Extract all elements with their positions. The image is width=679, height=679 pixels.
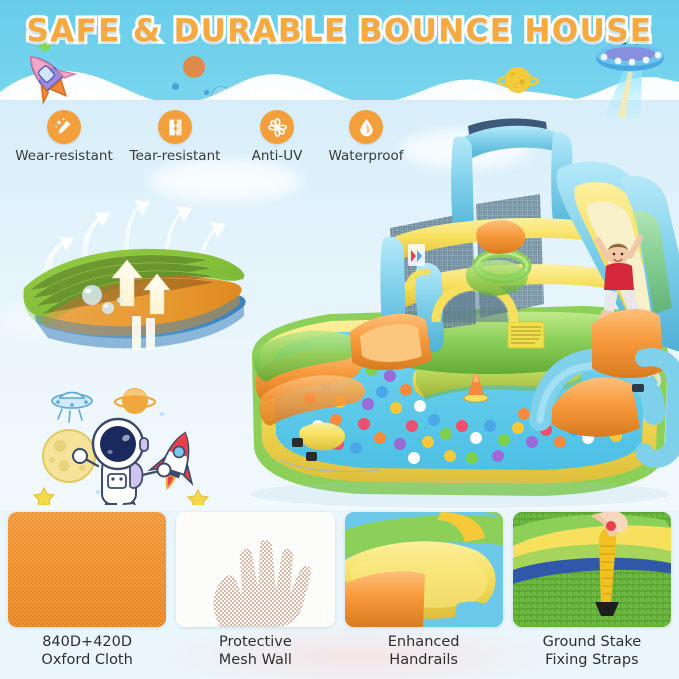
caption-line-1: Protective — [176, 634, 334, 652]
star-icon — [34, 488, 54, 505]
caption-line-2: Handrails — [345, 652, 503, 670]
star-icon — [188, 490, 208, 505]
feature-wear-resistant[interactable]: Wear-resistant — [8, 110, 120, 164]
oxford-cloth-caption: 840D+420D Oxford Cloth — [8, 634, 166, 669]
planet-saturn-icon — [496, 60, 540, 104]
panel-image-row — [8, 512, 671, 627]
feature-label: Anti-UV — [252, 148, 303, 164]
hand-pulling-stake-strap-on-grass — [513, 512, 671, 627]
hand-pressing-mesh — [176, 512, 334, 627]
air-valve — [306, 452, 317, 461]
oxford-cloth-panel[interactable] — [8, 512, 166, 627]
sun-flower-icon — [260, 110, 294, 144]
feature-list: Wear-resistant Tear-resistant — [8, 110, 408, 170]
rocket-icon — [146, 426, 206, 497]
caption-line-1: Ground Stake — [513, 634, 671, 652]
infographic-page: SAFE & DURABLE BOUNCE HOUSE Wear-resista… — [0, 0, 679, 679]
ground-stake-panel[interactable] — [513, 512, 671, 627]
handrails-caption: Enhanced Handrails — [345, 634, 503, 669]
feature-label: Waterproof — [328, 148, 403, 164]
caption-line-2: Mesh Wall — [176, 652, 334, 670]
planet-saturn-icon — [115, 388, 155, 414]
torn-fabric-icon — [158, 110, 192, 144]
ufo-icon — [52, 392, 92, 422]
feature-anti-uv[interactable]: Anti-UV — [230, 110, 324, 164]
detail-panels: 840D+420D Oxford Cloth Protective Mesh W… — [0, 512, 679, 679]
ground-stake-caption: Ground Stake Fixing Straps — [513, 634, 671, 669]
sprinkler-nozzle — [632, 384, 644, 392]
title-container: SAFE & DURABLE BOUNCE HOUSE — [0, 8, 679, 54]
feature-tear-resistant[interactable]: Tear-resistant — [120, 110, 230, 164]
water-drop-icon — [349, 110, 383, 144]
caption-line-2: Oxford Cloth — [8, 652, 166, 670]
caption-line-1: Enhanced — [345, 634, 503, 652]
feature-label: Wear-resistant — [15, 148, 113, 164]
star-dot — [96, 490, 100, 494]
breathable-fabric-layers-diagram — [8, 182, 258, 362]
feature-label: Tear-resistant — [130, 148, 221, 164]
orange-oxford-fabric-texture — [8, 512, 166, 627]
handrails-panel[interactable] — [345, 512, 503, 627]
mesh-wall-panel[interactable] — [176, 512, 334, 627]
brush-sparkle-icon — [47, 110, 81, 144]
panel-caption-row: 840D+420D Oxford Cloth Protective Mesh W… — [8, 634, 671, 669]
star-dot — [160, 412, 164, 416]
feature-waterproof[interactable]: Waterproof — [324, 110, 408, 164]
ground-shadow — [250, 480, 670, 508]
brand-decal — [408, 244, 425, 266]
air-valve — [292, 438, 303, 447]
mesh-wall-caption: Protective Mesh Wall — [176, 634, 334, 669]
caption-line-2: Fixing Straps — [513, 652, 671, 670]
right-orange-panel — [592, 309, 664, 378]
astronaut-illustration — [22, 370, 237, 505]
caption-line-1: 840D+420D — [8, 634, 166, 652]
yellow-inflatable-handrail — [345, 512, 503, 627]
page-title: SAFE & DURABLE BOUNCE HOUSE — [27, 13, 653, 49]
